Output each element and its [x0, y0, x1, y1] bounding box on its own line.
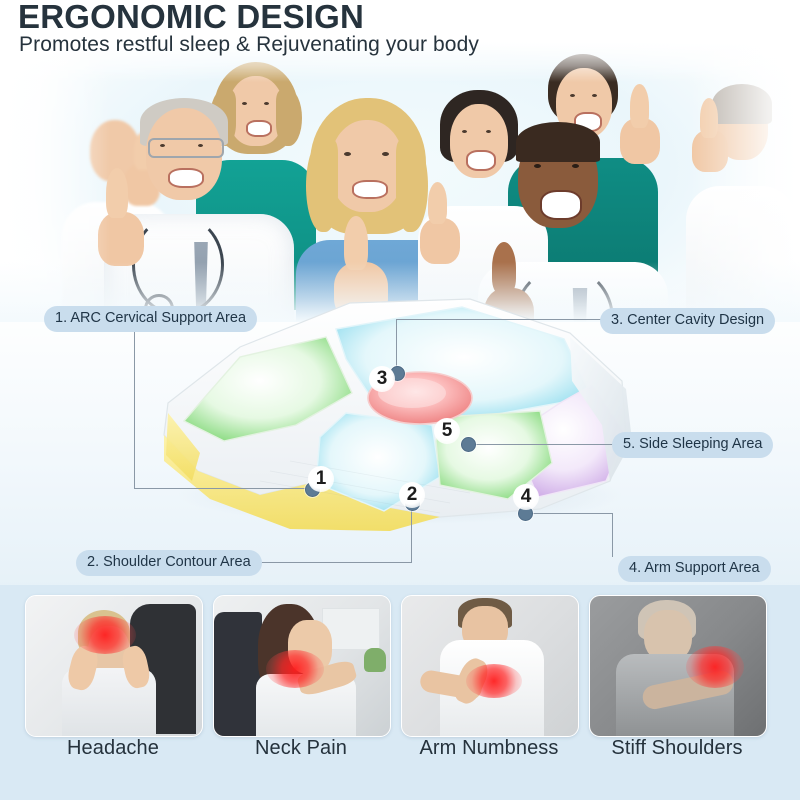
symptom-image-neck-pain [214, 596, 390, 736]
marker-number-2: 2 [399, 482, 425, 508]
leader-line-2-vertical [411, 503, 412, 563]
symptom-caption: Stiff Shoulders [589, 737, 765, 760]
symptom-card[interactable] [25, 595, 203, 737]
symptom-caption: Neck Pain [213, 737, 389, 760]
callout-pill-5[interactable]: 5. Side Sleeping Area [612, 432, 773, 458]
pain-highlight [466, 664, 522, 698]
symptom-card-list [0, 595, 800, 745]
leader-line-4-horizontal [531, 513, 613, 514]
symptoms-section: Headache Neck Pain Arm Numbness Stiff Sh… [0, 585, 800, 800]
leader-line-2-horizontal [240, 562, 412, 563]
leader-line-5-horizontal [470, 444, 614, 445]
symptom-image-headache [26, 596, 202, 736]
header: ERGONOMIC DESIGN Promotes restful sleep … [0, 0, 800, 70]
page-subtitle: Promotes restful sleep & Rejuvenating yo… [19, 33, 479, 57]
marker-dot-5[interactable] [461, 437, 476, 452]
callout-pill-2[interactable]: 2. Shoulder Contour Area [76, 550, 262, 576]
pain-highlight [74, 616, 136, 654]
callout-pill-3[interactable]: 3. Center Cavity Design [600, 308, 775, 334]
leader-line-3-horizontal [396, 319, 602, 320]
marker-number-1: 1 [308, 466, 334, 492]
marker-number-5: 5 [434, 418, 460, 444]
symptom-caption: Arm Numbness [401, 737, 577, 760]
callout-pill-1[interactable]: 1. ARC Cervical Support Area [44, 306, 257, 332]
symptom-card[interactable] [589, 595, 767, 737]
marker-number-4: 4 [513, 484, 539, 510]
leader-line-4-vertical [612, 513, 613, 557]
leader-line-1-vertical [134, 330, 135, 488]
pain-highlight [266, 650, 324, 688]
symptom-caption: Headache [25, 737, 201, 760]
pain-highlight [686, 646, 744, 688]
infographic-page: ERGONOMIC DESIGN Promotes restful sleep … [0, 0, 800, 800]
symptom-image-stiff-shoulders [590, 596, 766, 736]
leader-line-1-horizontal [134, 488, 310, 489]
symptom-card[interactable] [213, 595, 391, 737]
medical-team-photo [0, 42, 800, 322]
page-title: ERGONOMIC DESIGN [18, 0, 364, 36]
callout-pill-4[interactable]: 4. Arm Support Area [618, 556, 771, 582]
symptom-image-arm-numbness [402, 596, 578, 736]
leader-line-3-vertical [396, 319, 397, 370]
symptom-card[interactable] [401, 595, 579, 737]
marker-number-3: 3 [369, 366, 395, 392]
